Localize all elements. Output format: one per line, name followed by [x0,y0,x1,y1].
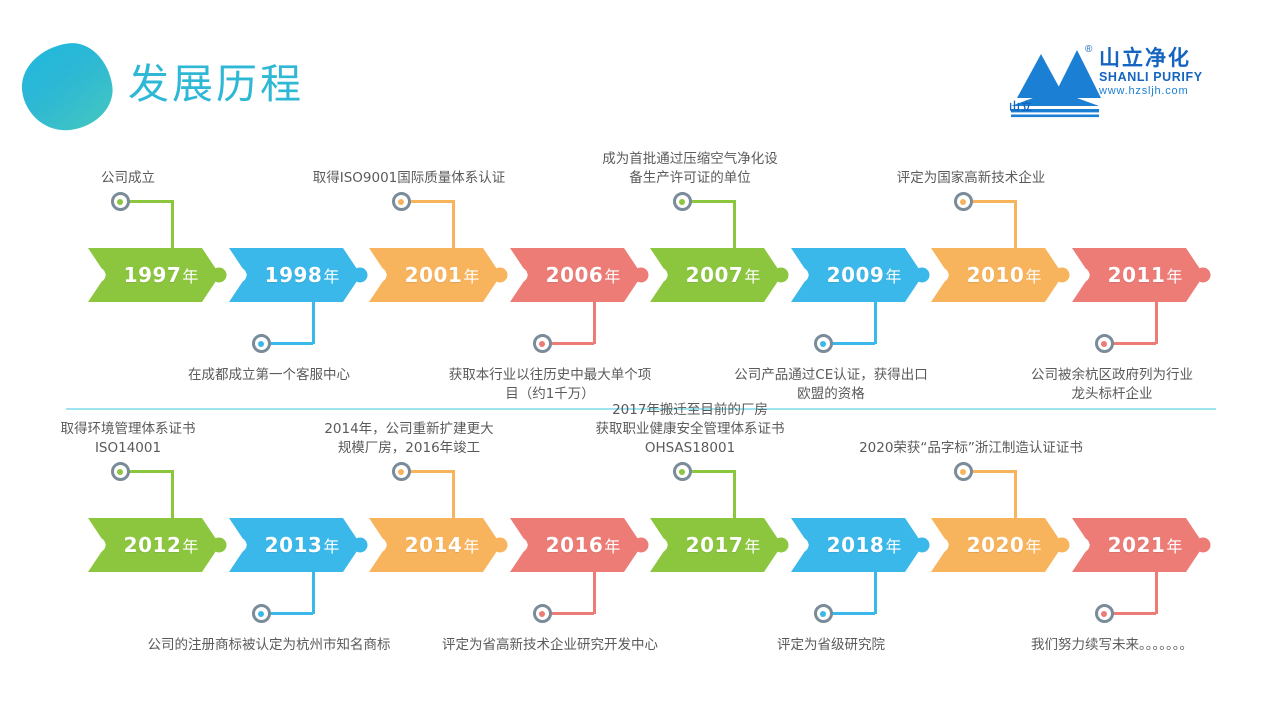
milestone-dot[interactable] [814,604,833,623]
milestone-caption-2012: 取得环境管理体系证书 ISO14001 [0,420,278,458]
timeline-milestone-2011[interactable]: 2011年 [1068,248,1208,302]
milestone-dot[interactable] [252,604,271,623]
milestone-caption-2009: 公司产品通过CE认证，获得出口 欧盟的资格 [681,366,981,404]
milestone-caption-1998: 在成都成立第一个客服中心 [119,366,419,385]
timeline-milestone-2012[interactable]: 2012年 [84,518,224,572]
timeline-band-1: 1997年1998年2001年2006年2007年2009年2010年2011年 [84,248,1208,302]
timeline-milestone-2013[interactable]: 2013年 [225,518,365,572]
chevron-shape [646,248,786,302]
timeline-row-1: 1997年1998年2001年2006年2007年2009年2010年2011年… [0,150,1280,405]
logo-sub-label: 山立 [1009,98,1033,114]
timeline-band-2: 2012年2013年2014年2016年2017年2018年2020年2021年 [84,518,1208,572]
milestone-caption-2021: 我们努力续写未来。。。。。。。 [962,636,1262,655]
timeline-milestone-2009[interactable]: 2009年 [787,248,927,302]
logo-text-block: 山立净化 SHANLI PURIFY www.hzsljh.com [1099,46,1221,98]
milestone-dot[interactable] [954,462,973,481]
chevron-shape [646,518,786,572]
logo-website-url: www.hzsljh.com [1099,84,1221,98]
chevron-shape [927,248,1067,302]
timeline-milestone-2010[interactable]: 2010年 [927,248,1067,302]
registered-trademark-icon: ® [1085,44,1092,55]
timeline-milestone-1998[interactable]: 1998年 [225,248,365,302]
milestone-dot[interactable] [814,334,833,353]
timeline-milestone-2007[interactable]: 2007年 [646,248,786,302]
timeline-milestone-2020[interactable]: 2020年 [927,518,1067,572]
timeline-milestone-2021[interactable]: 2021年 [1068,518,1208,572]
logo-company-name-cn: 山立净化 [1099,46,1221,70]
slide-root: 发展历程 ® 山立 山立净化 SHANLI PURIFY www.hzsljh.… [0,0,1280,720]
milestone-caption-2007: 成为首批通过压缩空气净化设 备生产许可证的单位 [540,150,840,188]
milestone-caption-1997: 公司成立 [0,169,278,188]
slide-header: 发展历程 ® 山立 山立净化 SHANLI PURIFY www.hzsljh.… [0,0,1280,140]
milestone-dot[interactable] [533,604,552,623]
milestone-caption-2017: 2017年搬迁至目前的厂房 获取职业健康安全管理体系证书 OHSAS18001 [540,401,840,458]
chevron-shape [787,248,927,302]
milestone-caption-2010: 评定为国家高新技术企业 [821,169,1121,188]
milestone-dot[interactable] [954,192,973,211]
milestone-dot[interactable] [392,462,411,481]
timeline-milestone-2014[interactable]: 2014年 [365,518,505,572]
timeline-row-2: 2012年2013年2014年2016年2017年2018年2020年2021年… [0,420,1280,675]
chevron-shape [1068,248,1208,302]
timeline-milestone-2006[interactable]: 2006年 [506,248,646,302]
milestone-dot[interactable] [1095,604,1114,623]
chevron-shape [84,248,224,302]
milestone-dot[interactable] [673,192,692,211]
timeline-milestone-1997[interactable]: 1997年 [84,248,224,302]
milestone-caption-2001: 取得ISO9001国际质量体系认证 [259,169,559,188]
milestone-dot[interactable] [392,192,411,211]
milestone-caption-2011: 公司被余杭区政府列为行业 龙头标杆企业 [962,366,1262,404]
milestone-dot[interactable] [111,192,130,211]
milestone-caption-2020: 2020荣获“品字标”浙江制造认证证书 [821,439,1121,458]
chevron-shape [927,518,1067,572]
timeline-milestone-2016[interactable]: 2016年 [506,518,646,572]
chevron-shape [787,518,927,572]
chevron-shape [365,518,505,572]
chevron-shape [506,518,646,572]
chevron-shape [225,518,365,572]
chevron-shape [225,248,365,302]
milestone-caption-2016: 评定为省高新技术企业研究开发中心 [400,636,700,655]
milestone-caption-2018: 评定为省级研究院 [681,636,981,655]
milestone-dot[interactable] [673,462,692,481]
company-logo: ® 山立 山立净化 SHANLI PURIFY www.hzsljh.com [1003,44,1218,122]
chevron-shape [365,248,505,302]
logo-company-name-en: SHANLI PURIFY [1099,70,1221,84]
milestone-dot[interactable] [252,334,271,353]
milestone-dot[interactable] [111,462,130,481]
milestone-caption-2013: 公司的注册商标被认定为杭州市知名商标 [119,636,419,655]
milestone-caption-2006: 获取本行业以往历史中最大单个项 目（约1千万） [400,366,700,404]
chevron-shape [84,518,224,572]
chevron-shape [1068,518,1208,572]
timeline-milestone-2018[interactable]: 2018年 [787,518,927,572]
timeline-milestone-2001[interactable]: 2001年 [365,248,505,302]
page-title: 发展历程 [128,58,304,110]
milestone-dot[interactable] [1095,334,1114,353]
milestone-caption-2014: 2014年，公司重新扩建更大 规模厂房，2016年竣工 [259,420,559,458]
timeline-milestone-2017[interactable]: 2017年 [646,518,786,572]
milestone-dot[interactable] [533,334,552,353]
decorative-blob-shape [16,38,117,136]
chevron-shape [506,248,646,302]
